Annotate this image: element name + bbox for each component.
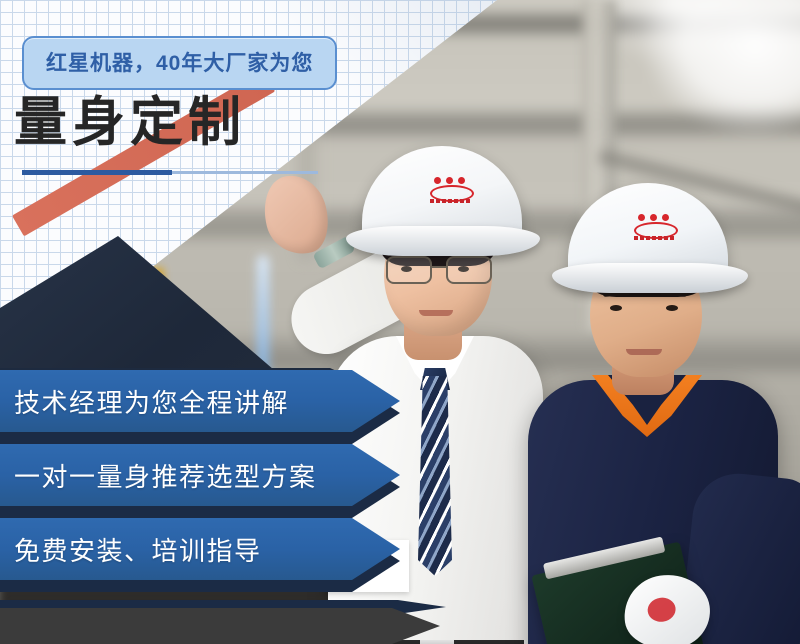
mouth [626, 349, 662, 355]
mouth [419, 310, 453, 316]
eye-right [666, 305, 678, 311]
title-underline-dark [22, 170, 172, 175]
feature-bar-2[interactable]: 一对一量身推荐选型方案 [0, 444, 400, 506]
eyeglasses-icon [384, 256, 494, 282]
list-item[interactable]: 一对一量身推荐选型方案 [0, 444, 480, 518]
feature-bar-1-label: 技术经理为您全程讲解 [0, 383, 289, 420]
hard-hat-brim [552, 263, 748, 293]
page-title: 量身定制 [14, 96, 246, 149]
list-item[interactable]: 免费安装、培训指导 [0, 518, 480, 592]
belt-buckle [420, 640, 454, 644]
feature-bar-2-label: 一对一量身推荐选型方案 [0, 457, 317, 494]
promo-banner: 红星机器，40年大厂家为您 量身定制 技术经理为您全程讲解 一对一量身推荐选型方… [0, 0, 800, 644]
list-item[interactable]: 技术经理为您全程讲解 [0, 370, 480, 444]
helmet-brand-logo-icon [632, 213, 676, 241]
title-underline-light [172, 171, 318, 174]
feature-bar-3[interactable]: 免费安装、培训指导 [0, 518, 400, 580]
brand-tagline-badge: 红星机器，40年大厂家为您 [22, 36, 337, 90]
eye-left [610, 305, 622, 311]
feature-bar-1[interactable]: 技术经理为您全程讲解 [0, 370, 400, 432]
bottom-slate-strip [0, 608, 440, 644]
hard-hat-brim [346, 226, 540, 256]
engineer-navy-uniform [520, 175, 800, 644]
feature-bar-3-label: 免费安装、培训指导 [0, 531, 262, 568]
title-underline [22, 170, 172, 175]
feature-bar-list: 技术经理为您全程讲解 一对一量身推荐选型方案 免费安装、培训指导 [0, 370, 480, 614]
helmet-brand-logo-icon [428, 176, 474, 206]
